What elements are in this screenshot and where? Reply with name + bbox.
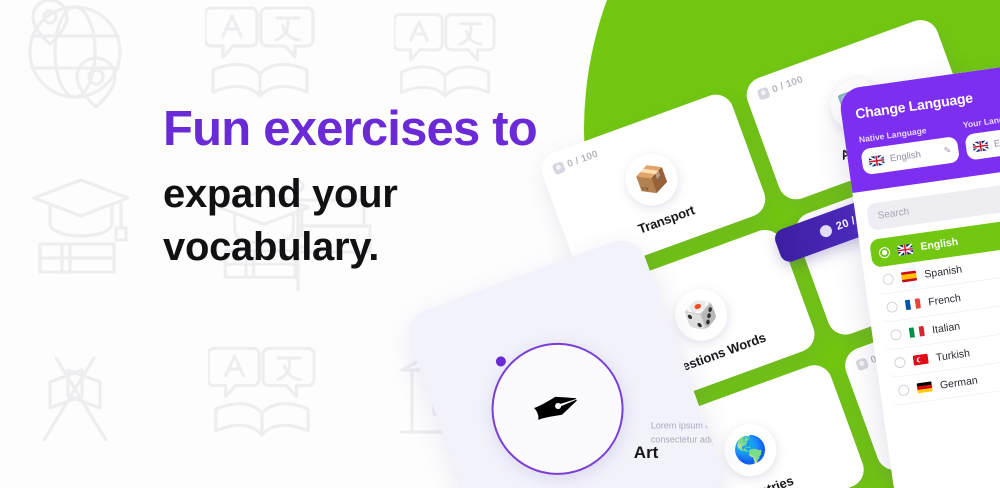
de-flag-icon bbox=[916, 381, 932, 394]
question-cube-icon: 🎲 bbox=[668, 282, 735, 349]
language-option-label: English bbox=[920, 236, 959, 253]
uk-flag-icon bbox=[868, 154, 884, 167]
uk-flag-icon-2 bbox=[972, 139, 988, 152]
headline-line-3: vocabulary. bbox=[163, 221, 633, 274]
language-search-placeholder: Search bbox=[877, 206, 910, 221]
headline: Fun exercises to expand your vocabulary. bbox=[163, 104, 633, 274]
language-option-label: French bbox=[927, 292, 961, 308]
language-panel-title: Change Language bbox=[854, 78, 1000, 122]
pen-nib-icon: ✒ bbox=[473, 324, 642, 488]
translate-book-icon-2 bbox=[394, 4, 496, 104]
tr-flag-icon bbox=[913, 353, 929, 366]
es-flag-icon bbox=[901, 270, 917, 283]
translate-book-icon bbox=[205, 0, 315, 103]
fr-flag-icon bbox=[905, 298, 921, 311]
it-flag-icon bbox=[909, 325, 925, 338]
uk-flag-icon bbox=[897, 243, 913, 256]
progress-value: 0 / 100 bbox=[771, 74, 805, 95]
language-option-label: Turkish bbox=[935, 347, 970, 364]
radio-icon[interactable] bbox=[882, 273, 894, 285]
native-language-field-wrap: Native Language English ✎ bbox=[858, 121, 960, 175]
language-option-label: German bbox=[939, 374, 978, 391]
promo-banner: Fun exercises to expand your vocabulary.… bbox=[0, 0, 1000, 488]
language-option-label: Spanish bbox=[924, 263, 963, 280]
crossed-flags-icon bbox=[16, 344, 134, 454]
globe-pin-icon bbox=[18, 0, 138, 124]
target-language-field-wrap: Your Language English bbox=[962, 107, 1000, 161]
progress-badge: 0 / 100 bbox=[757, 74, 805, 100]
lock-icon bbox=[757, 87, 771, 101]
earth-pins-icon: 🌎 bbox=[717, 417, 784, 484]
lock-icon bbox=[855, 357, 869, 371]
edit-pencil-icon[interactable]: ✎ bbox=[943, 144, 952, 156]
graduation-books-icon bbox=[26, 172, 136, 292]
target-language-label: Your Language bbox=[962, 107, 1000, 130]
language-list: EnglishSpanishFrenchItalianTurkishGerman bbox=[859, 210, 1000, 408]
radio-icon[interactable] bbox=[890, 329, 902, 341]
headline-line-2: expand your bbox=[163, 168, 633, 221]
native-language-value: English bbox=[889, 146, 939, 164]
language-option-label: Italian bbox=[931, 320, 960, 336]
radio-icon[interactable] bbox=[878, 246, 890, 258]
translate-book-icon-3 bbox=[208, 338, 316, 442]
radio-icon[interactable] bbox=[886, 301, 898, 313]
check-icon bbox=[819, 223, 834, 238]
headline-line-1: Fun exercises to bbox=[163, 104, 633, 156]
category-card-label: Transport bbox=[636, 202, 697, 236]
radio-icon[interactable] bbox=[894, 356, 906, 368]
target-language-value: English bbox=[993, 130, 1000, 150]
radio-icon[interactable] bbox=[898, 384, 910, 396]
